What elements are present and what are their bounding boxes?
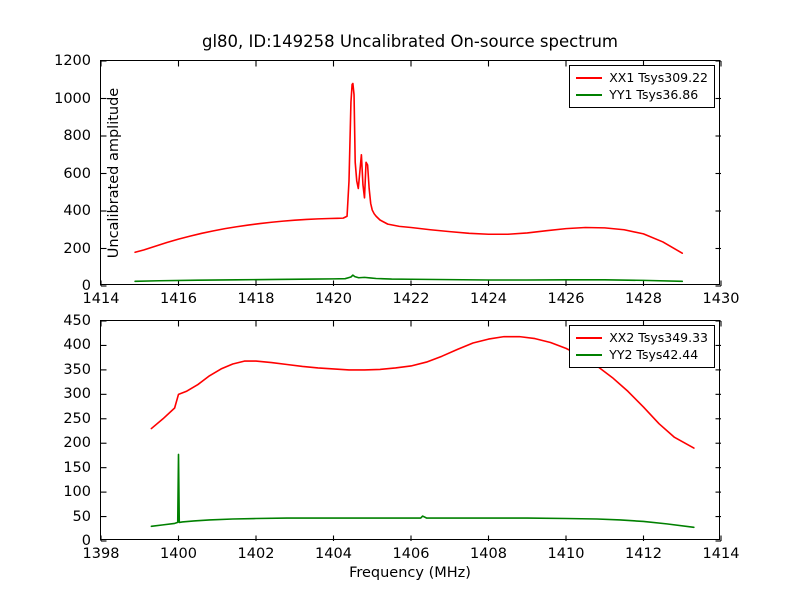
y-tick-label: 450 [31, 313, 91, 329]
legend-color-swatch [576, 337, 602, 339]
x-tick-label: 1420 [315, 291, 352, 307]
y-tick-label: 400 [31, 337, 91, 353]
x-tick-label: 1426 [548, 291, 585, 307]
x-tick-label: 1418 [238, 291, 275, 307]
series-line [151, 454, 694, 527]
legend-label: XX1 Tsys309.22 [609, 70, 708, 85]
x-tick-label: 1402 [238, 546, 275, 562]
x-tick-label: 1408 [470, 546, 507, 562]
legend-bottom: XX2 Tsys349.33YY2 Tsys42.44 [569, 325, 715, 368]
legend-entry: XX1 Tsys309.22 [576, 69, 708, 86]
y-tick-label: 200 [31, 435, 91, 451]
y-tick-label: 250 [31, 411, 91, 427]
x-tick-label: 1404 [315, 546, 352, 562]
legend-entry: YY1 Tsys36.86 [576, 86, 708, 103]
y-tick-label: 50 [31, 509, 91, 525]
x-tick-label: 1416 [160, 291, 197, 307]
spectrum-panel-bottom: 0501001502002503003504004501398140014021… [100, 320, 720, 540]
page-title: gl80, ID:149258 Uncalibrated On-source s… [100, 32, 720, 51]
legend-color-swatch [576, 77, 602, 79]
y-tick-label: 350 [31, 362, 91, 378]
x-tick-label: 1400 [160, 546, 197, 562]
series-line [135, 275, 682, 281]
y-tick-label: 100 [31, 484, 91, 500]
x-tick-label: 1406 [393, 546, 430, 562]
x-tick-label: 1412 [625, 546, 662, 562]
y-tick-label: 200 [31, 241, 91, 257]
x-tick-label: 1430 [703, 291, 740, 307]
legend-entry: YY2 Tsys42.44 [576, 346, 708, 363]
y-tick-label: 1200 [31, 53, 91, 69]
legend-color-swatch [576, 94, 602, 96]
x-tick-label: 1424 [470, 291, 507, 307]
x-axis-label: Frequency (MHz) [100, 565, 720, 581]
legend-color-swatch [576, 354, 602, 356]
figure-canvas: gl80, ID:149258 Uncalibrated On-source s… [0, 0, 800, 600]
legend-top: XX1 Tsys309.22YY1 Tsys36.86 [569, 65, 715, 108]
x-tick-label: 1414 [703, 546, 740, 562]
series-line [135, 84, 682, 254]
y-tick-label: 600 [31, 166, 91, 182]
legend-label: XX2 Tsys349.33 [609, 330, 708, 345]
x-tick-label: 1414 [83, 291, 120, 307]
x-tick-label: 1422 [393, 291, 430, 307]
x-tick-label: 1398 [83, 546, 120, 562]
spectrum-panel-top: Uncalibrated amplitude 02004006008001000… [100, 60, 720, 285]
y-tick-label: 150 [31, 460, 91, 476]
y-tick-label: 400 [31, 203, 91, 219]
y-tick-label: 800 [31, 128, 91, 144]
x-tick-label: 1410 [548, 546, 585, 562]
legend-label: YY2 Tsys42.44 [609, 347, 698, 362]
legend-label: YY1 Tsys36.86 [609, 87, 698, 102]
y-tick-label: 1000 [31, 91, 91, 107]
x-tick-label: 1428 [625, 291, 662, 307]
legend-entry: XX2 Tsys349.33 [576, 329, 708, 346]
y-tick-label: 300 [31, 386, 91, 402]
